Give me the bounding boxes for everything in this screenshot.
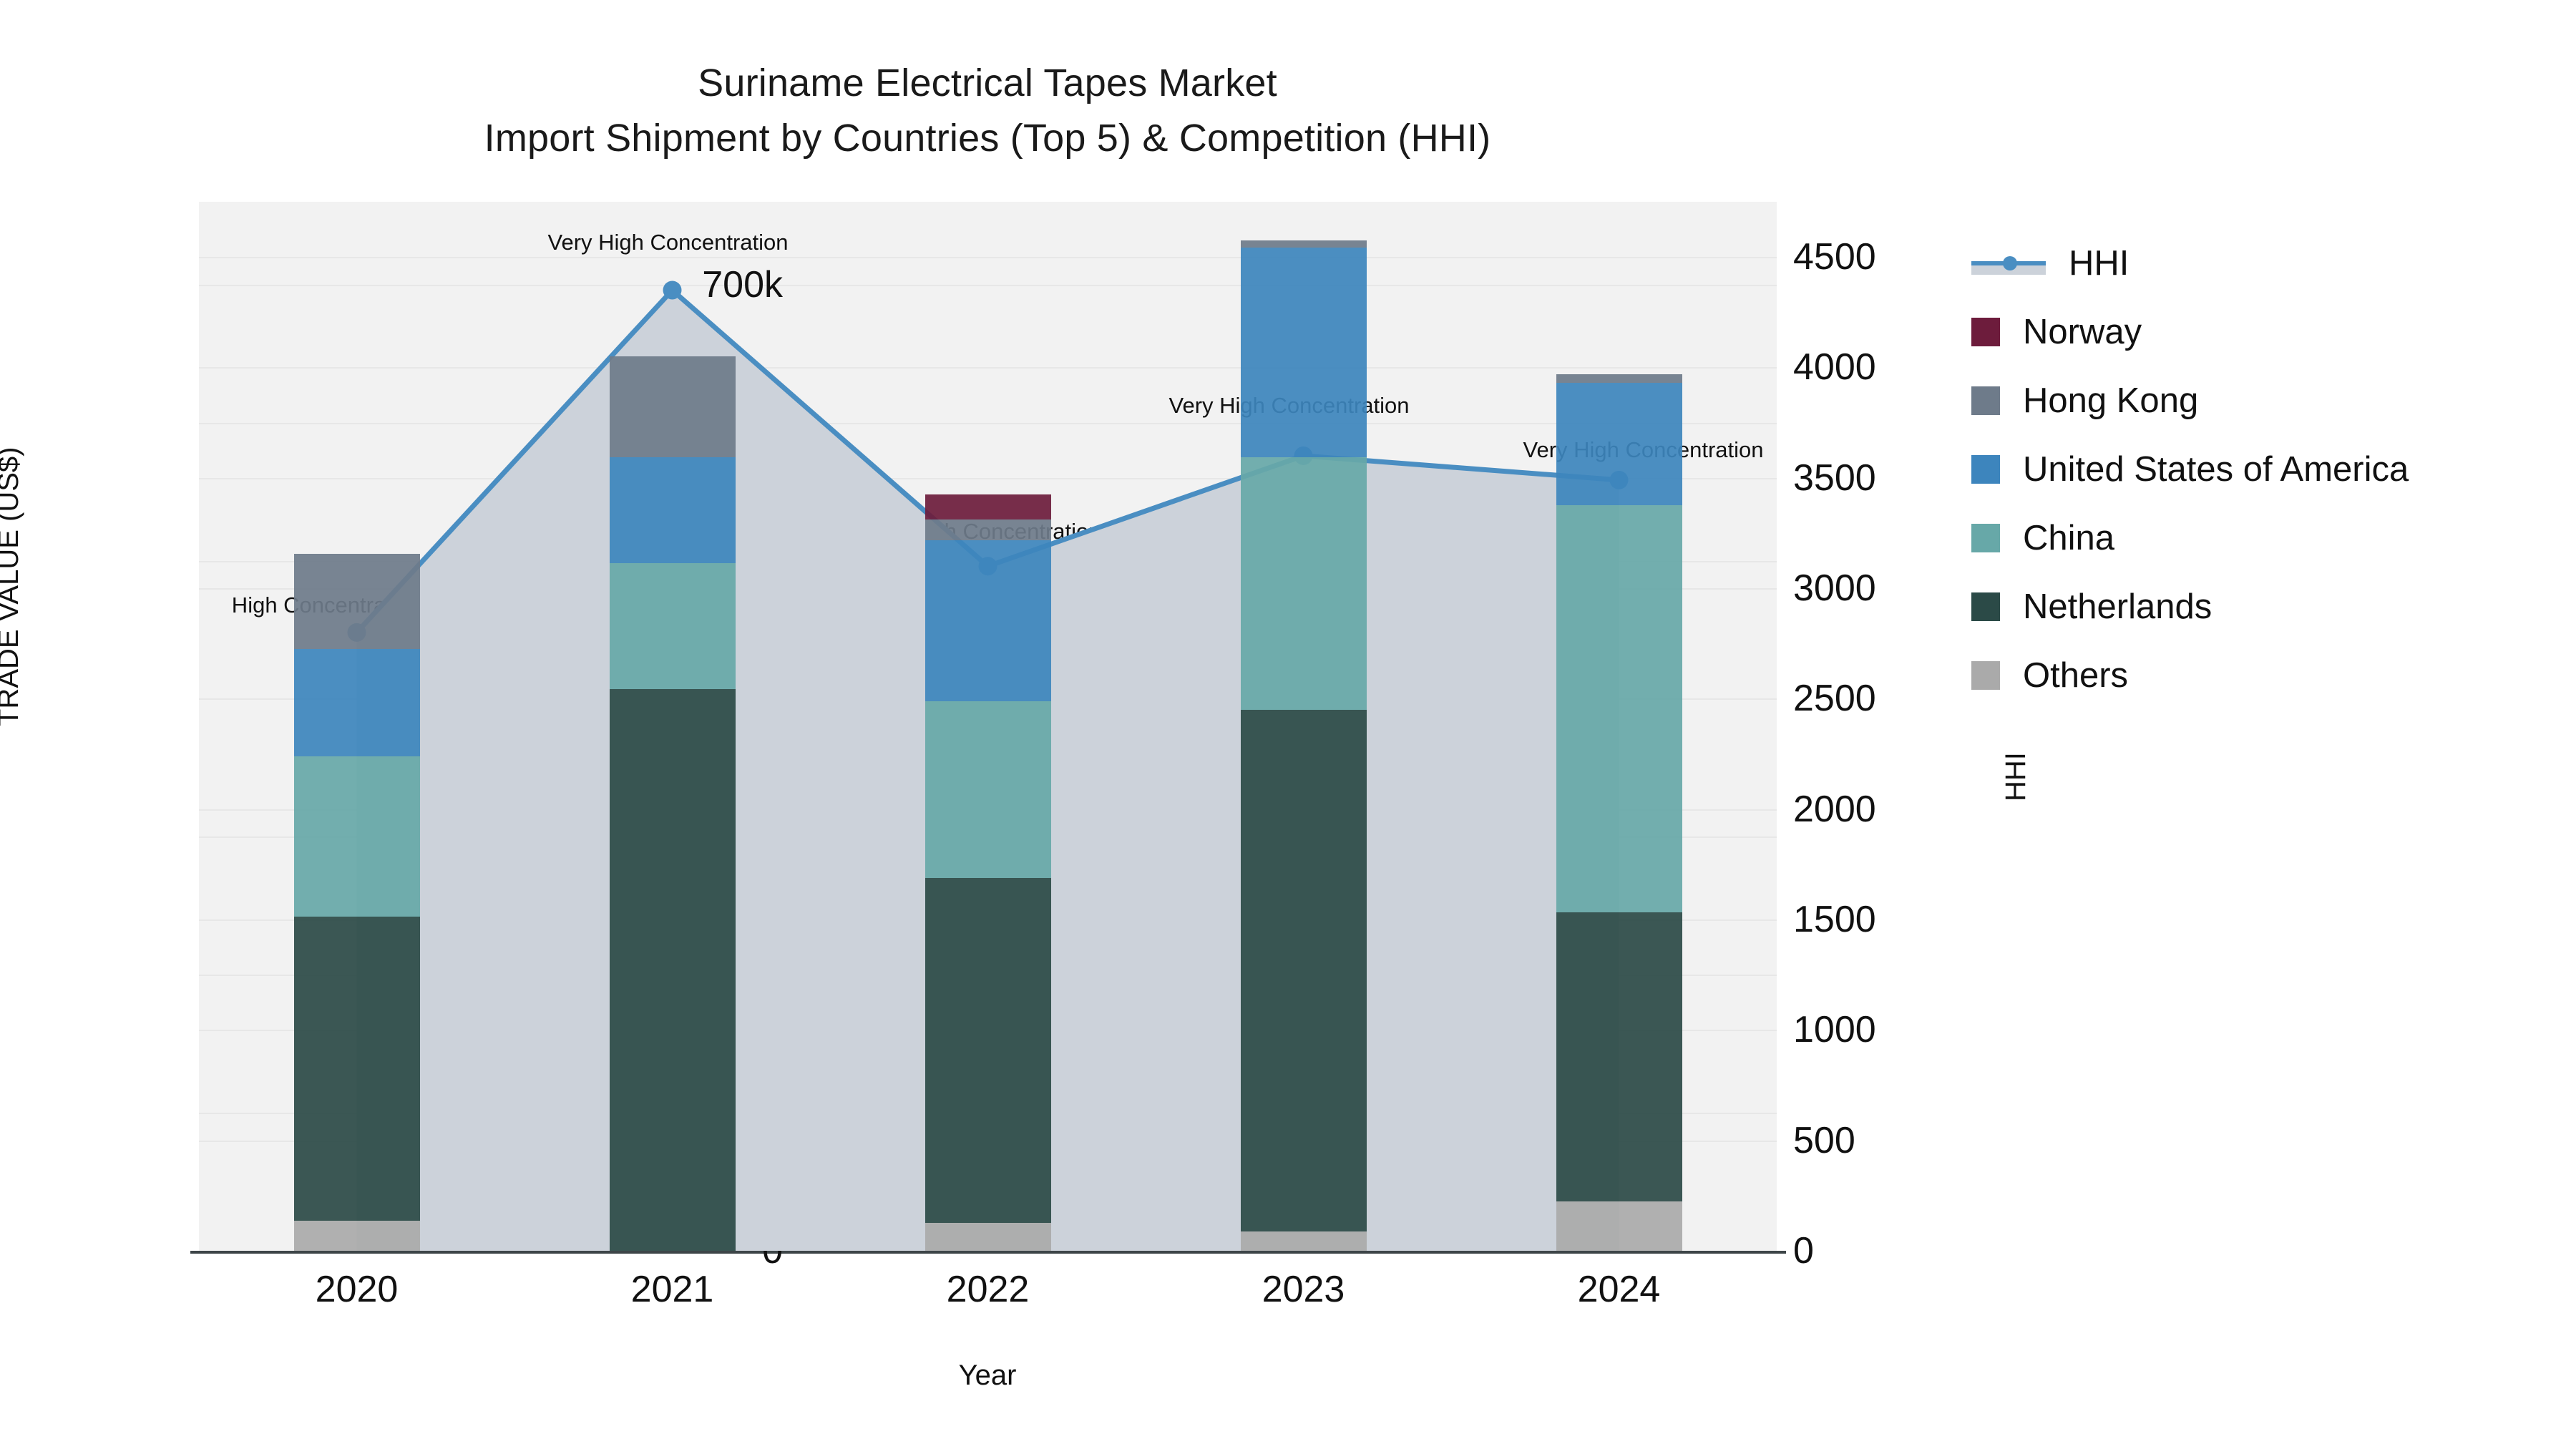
bar-segment-united-states-of-america[interactable]: [1241, 248, 1367, 457]
legend-swatch-icon: [1971, 455, 2000, 484]
bar-segment-netherlands[interactable]: [294, 917, 420, 1220]
chart-title-line-1: Suriname Electrical Tapes Market: [0, 56, 1975, 111]
legend-item-others[interactable]: Others: [1971, 641, 2409, 710]
bar-segment-netherlands[interactable]: [1556, 912, 1682, 1201]
bar-segment-united-states-of-america[interactable]: [610, 457, 736, 564]
legend-swatch-icon: [1971, 661, 2000, 690]
bar-segment-china[interactable]: [294, 756, 420, 917]
legend-swatch-icon: [1971, 386, 2000, 415]
legend-label: Netherlands: [2023, 587, 2212, 627]
legend-item-hong-kong[interactable]: Hong Kong: [1971, 366, 2409, 435]
bar-segment-united-states-of-america[interactable]: [925, 540, 1051, 702]
bar-segment-united-states-of-america[interactable]: [294, 649, 420, 756]
bar-group-2024[interactable]: [1556, 202, 1682, 1251]
bar-segment-hong-kong[interactable]: [294, 554, 420, 649]
y-right-tick: 3000: [1793, 567, 1876, 610]
legend-label: Others: [2023, 655, 2128, 696]
bars-layer: [199, 202, 1777, 1251]
chart-title-line-2: Import Shipment by Countries (Top 5) & C…: [0, 111, 1975, 166]
bar-segment-others[interactable]: [294, 1221, 420, 1251]
bar-segment-netherlands[interactable]: [925, 878, 1051, 1223]
x-tick-2020: 2020: [316, 1268, 399, 1311]
y-right-tick: 1000: [1793, 1008, 1876, 1051]
legend-item-united-states-of-america[interactable]: United States of America: [1971, 435, 2409, 504]
y-right-tick: 1500: [1793, 898, 1876, 941]
x-axis-label: Year: [959, 1360, 1017, 1392]
bar-segment-others[interactable]: [1556, 1201, 1682, 1251]
legend-item-netherlands[interactable]: Netherlands: [1971, 572, 2409, 641]
bar-segment-others[interactable]: [1241, 1231, 1367, 1251]
bar-group-2023[interactable]: [1241, 202, 1367, 1251]
y-axis-right-label: HHI: [2000, 752, 2032, 801]
bar-group-2022[interactable]: [925, 202, 1051, 1251]
y-axis-left-label: TRADE VALUE (US$): [0, 447, 25, 726]
legend-swatch-icon: [1971, 524, 2000, 552]
bar-segment-china[interactable]: [1241, 457, 1367, 710]
bar-segment-netherlands[interactable]: [1241, 710, 1367, 1231]
plot-area: [199, 202, 1777, 1251]
legend-line-marker-icon: [1971, 249, 2046, 278]
bar-segment-hong-kong[interactable]: [610, 356, 736, 457]
legend-label: China: [2023, 518, 2114, 558]
legend-item-china[interactable]: China: [1971, 504, 2409, 572]
y-right-tick: 3500: [1793, 457, 1876, 499]
bar-segment-china[interactable]: [925, 701, 1051, 878]
x-tick-2022: 2022: [947, 1268, 1030, 1311]
legend: HHINorwayHong KongUnited States of Ameri…: [1971, 229, 2409, 710]
legend-label: Hong Kong: [2023, 381, 2198, 421]
chart-title: Suriname Electrical Tapes Market Import …: [0, 56, 1975, 165]
bar-group-2021[interactable]: [610, 202, 736, 1251]
legend-label: Norway: [2023, 312, 2142, 352]
bar-group-2020[interactable]: [294, 202, 420, 1251]
legend-swatch-icon: [1971, 592, 2000, 621]
bar-segment-china[interactable]: [1556, 505, 1682, 912]
bar-segment-hong-kong[interactable]: [1556, 374, 1682, 383]
x-tick-2021: 2021: [631, 1268, 714, 1311]
bar-segment-netherlands[interactable]: [610, 689, 736, 1251]
y-right-tick: 2000: [1793, 788, 1876, 831]
bar-segment-others[interactable]: [925, 1223, 1051, 1251]
y-right-tick: 4000: [1793, 346, 1876, 389]
x-tick-2023: 2023: [1262, 1268, 1345, 1311]
x-tick-2024: 2024: [1578, 1268, 1661, 1311]
legend-label: HHI: [2069, 243, 2129, 283]
legend-item-hhi[interactable]: HHI: [1971, 229, 2409, 298]
y-right-tick: 4500: [1793, 235, 1876, 278]
bar-segment-united-states-of-america[interactable]: [1556, 383, 1682, 506]
x-axis-line: [190, 1251, 1786, 1254]
y-right-tick: 0: [1793, 1229, 1814, 1272]
legend-swatch-icon: [1971, 318, 2000, 346]
y-right-tick: 500: [1793, 1119, 1855, 1162]
legend-label: United States of America: [2023, 449, 2409, 489]
bar-segment-hong-kong[interactable]: [1241, 240, 1367, 248]
bar-segment-norway[interactable]: [925, 494, 1051, 519]
bar-segment-china[interactable]: [610, 563, 736, 689]
bar-segment-hong-kong[interactable]: [925, 519, 1051, 540]
legend-item-norway[interactable]: Norway: [1971, 298, 2409, 366]
y-right-tick: 2500: [1793, 677, 1876, 720]
